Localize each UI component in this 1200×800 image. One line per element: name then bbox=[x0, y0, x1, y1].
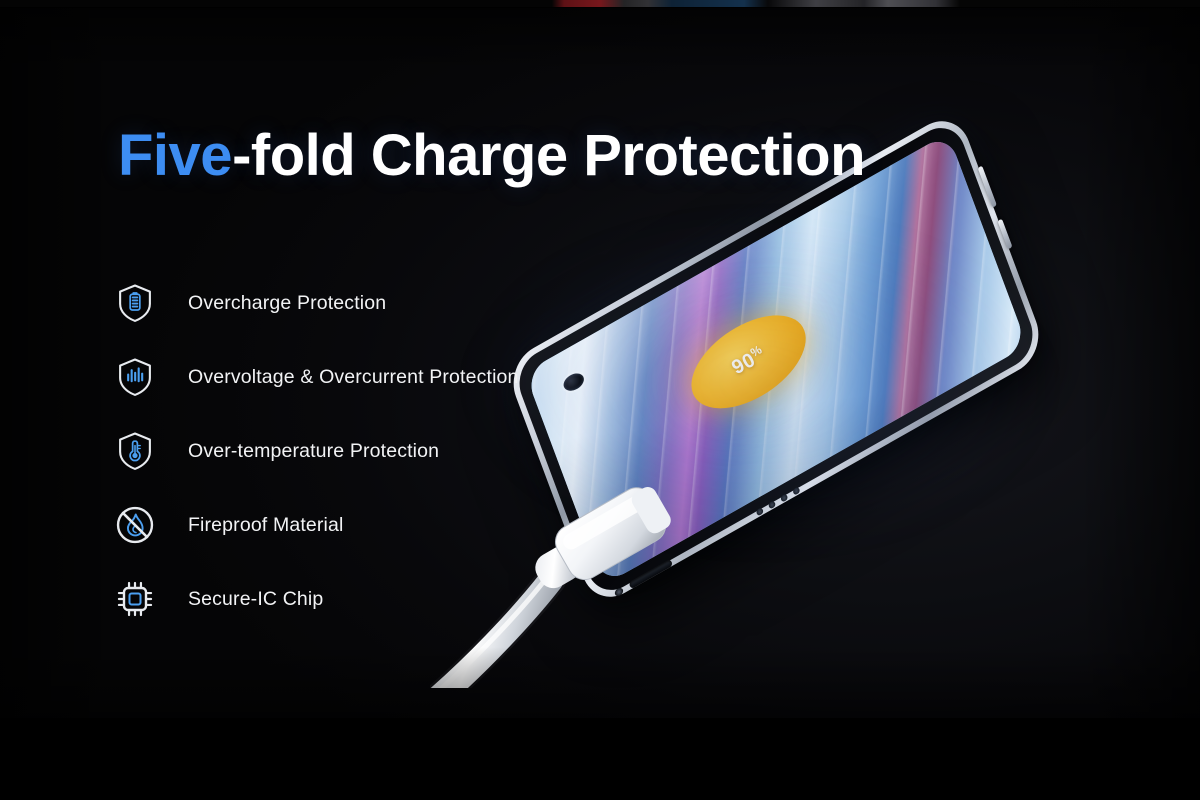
page-title-accent-word: Five bbox=[118, 123, 232, 188]
list-item: Overcharge Protection bbox=[112, 266, 632, 340]
list-item-label: Overcharge Protection bbox=[188, 292, 386, 315]
list-item: Overvoltage & Overcurrent Protection bbox=[112, 340, 632, 414]
list-item: Over-temperature Protection bbox=[112, 414, 632, 488]
no-fire-icon bbox=[112, 502, 158, 548]
shield-voltage-bars-icon bbox=[112, 354, 158, 400]
list-item-label: Overvoltage & Overcurrent Protection bbox=[188, 366, 519, 389]
page-title: Five-fold Charge Protection bbox=[118, 126, 865, 187]
page-title-rest: -fold Charge Protection bbox=[232, 123, 865, 188]
shield-battery-icon bbox=[112, 280, 158, 326]
slide-content-panel: Five-fold Charge Protection Ov bbox=[0, 8, 1200, 718]
shield-thermometer-icon bbox=[112, 428, 158, 474]
list-item-label: Over-temperature Protection bbox=[188, 440, 439, 463]
list-item-label: Secure-IC Chip bbox=[188, 588, 323, 611]
top-edge-artifact-strip bbox=[0, 0, 1200, 7]
list-item-label: Fireproof Material bbox=[188, 514, 344, 537]
list-item: Fireproof Material bbox=[112, 488, 632, 562]
slide-canvas: Five-fold Charge Protection Ov bbox=[0, 0, 1200, 800]
list-item: Secure-IC Chip bbox=[112, 562, 632, 636]
cpu-chip-icon bbox=[112, 576, 158, 622]
feature-list: Overcharge Protection bbox=[112, 266, 632, 636]
bottom-letterbox-bar bbox=[0, 718, 1200, 800]
